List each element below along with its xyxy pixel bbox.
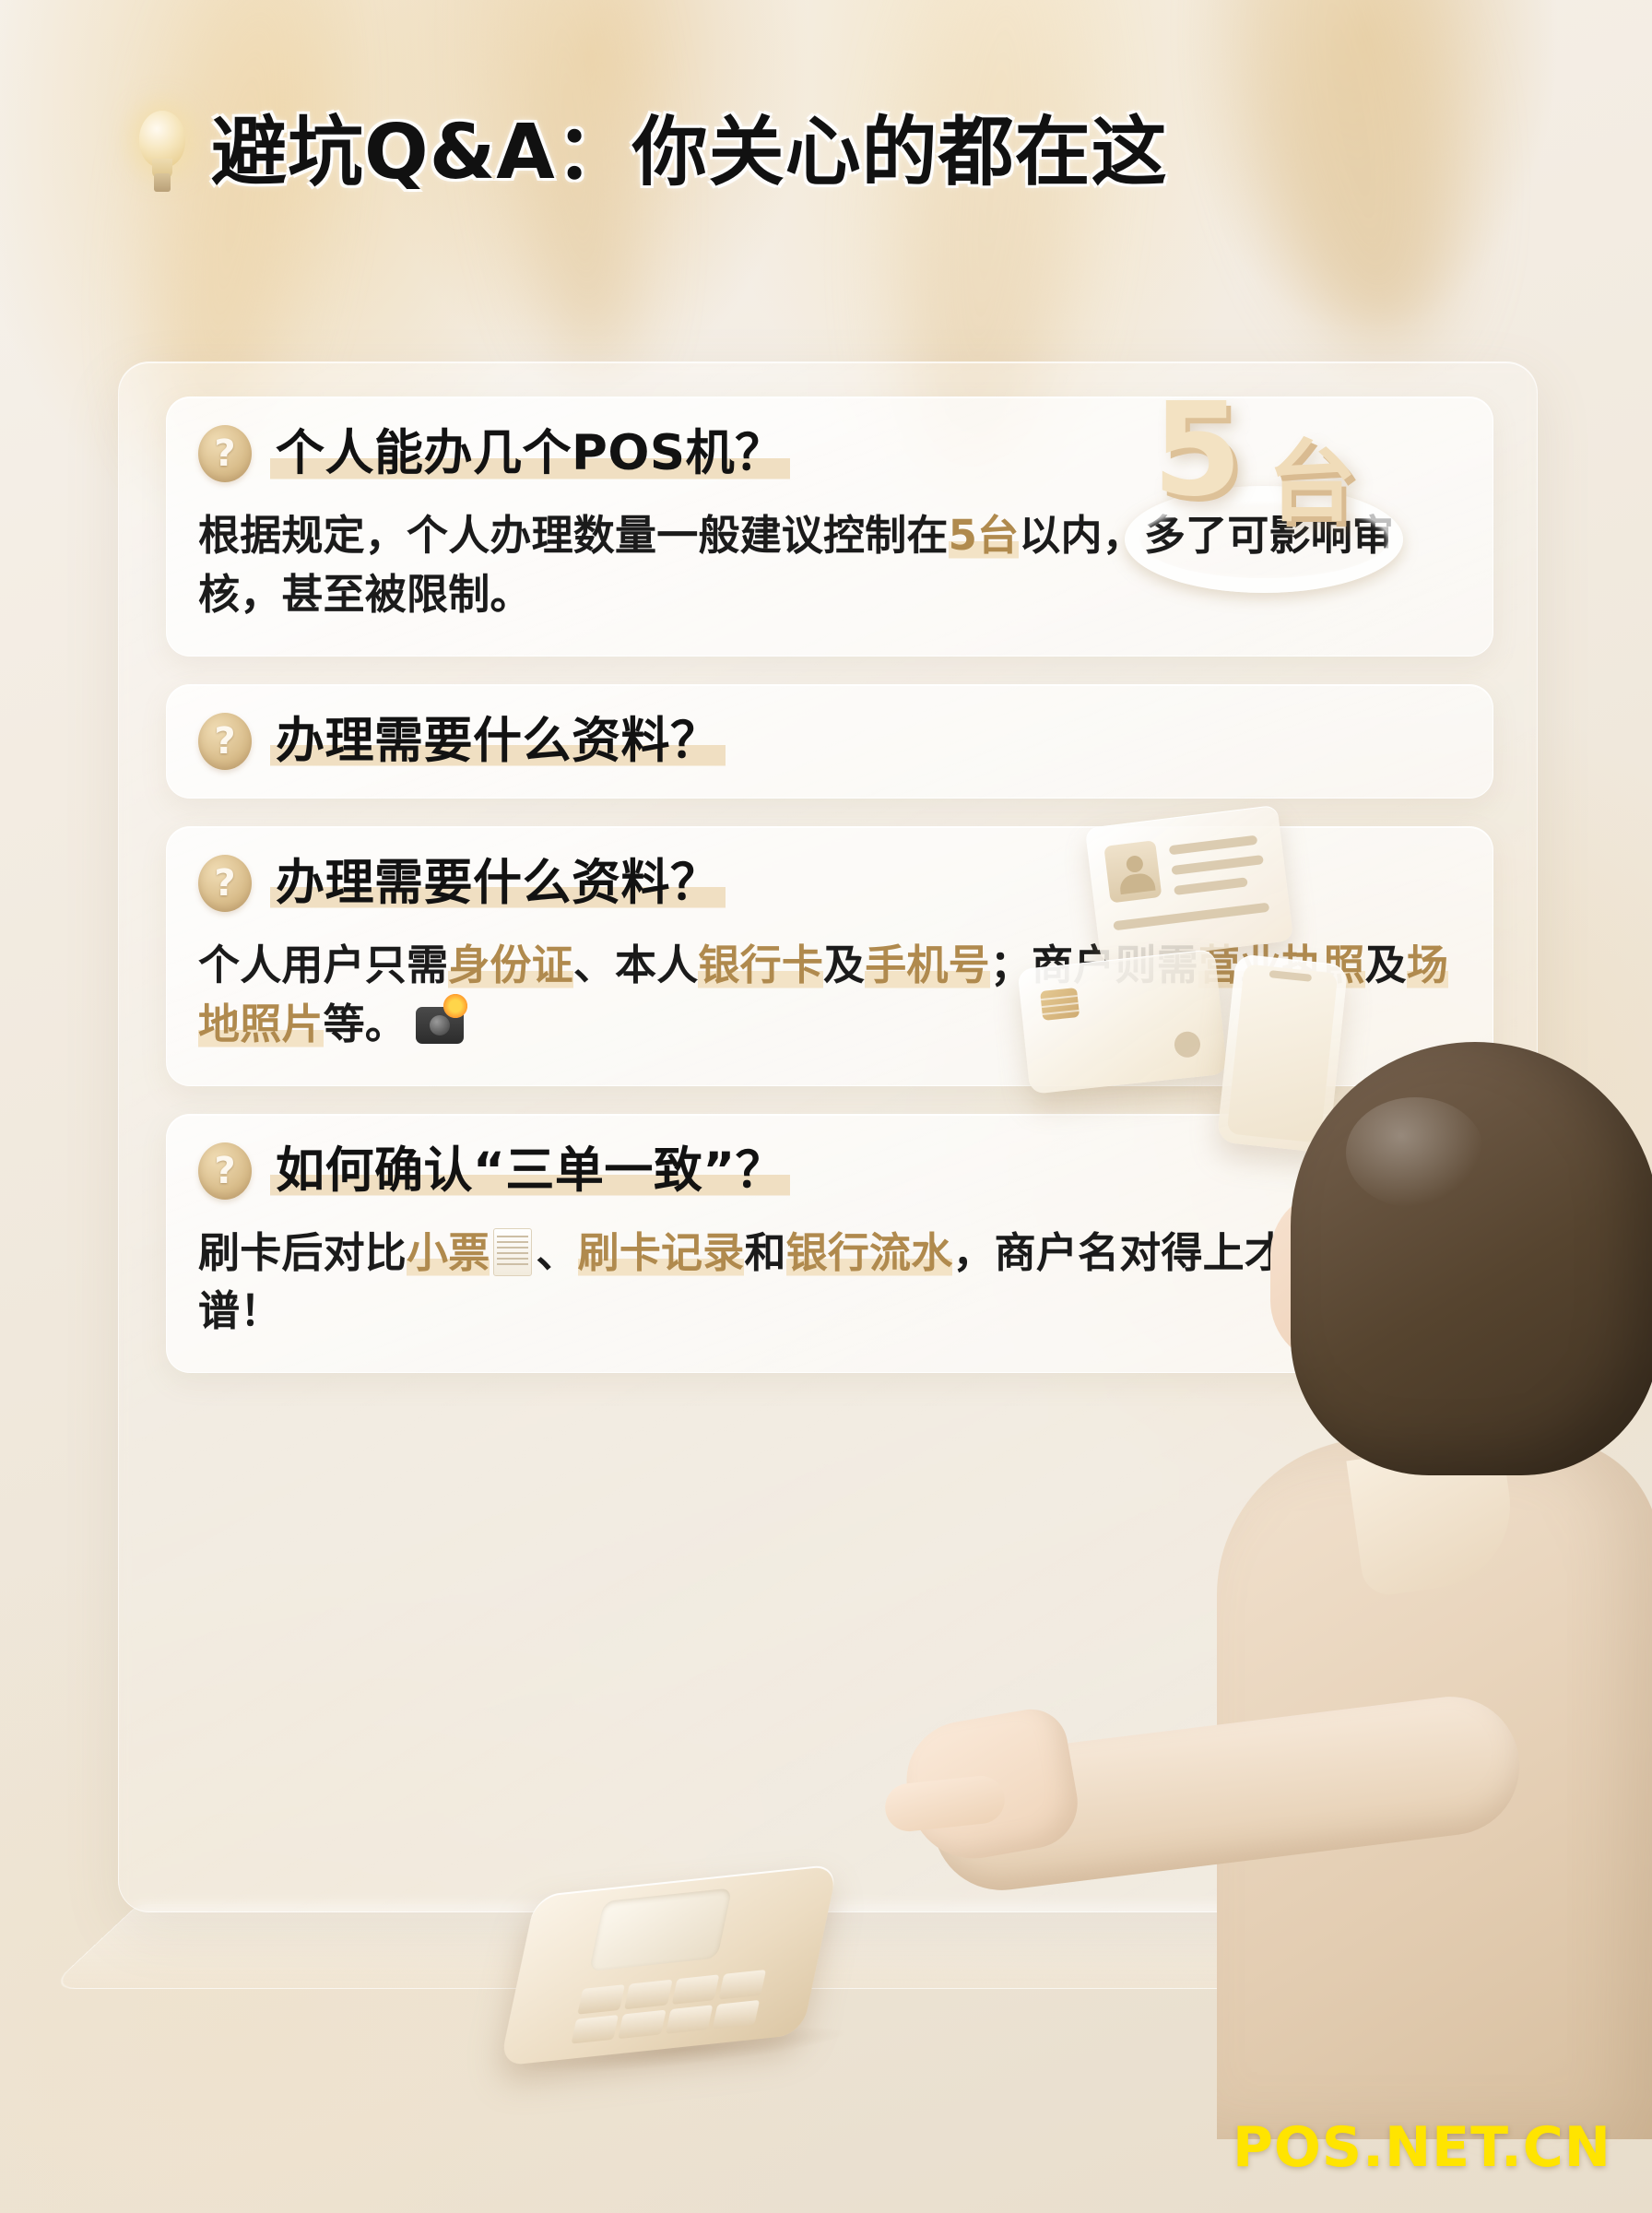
question-text: 个人能办几个POS机？ (270, 426, 790, 480)
question-text: 如何确认“三单一致”？ (270, 1143, 790, 1198)
answer-highlight: 银行卡 (698, 941, 823, 989)
question-row: ? 如何确认“三单一致”？ (198, 1142, 1461, 1200)
answer-highlight: 手机号 (865, 941, 990, 989)
answer-text: 个人用户只需身份证、本人银行卡及手机号；商户则需营业执照及场地照片等。 (198, 936, 1461, 1054)
background-light-streak (1213, 0, 1487, 363)
question-row: ? 办理需要什么资料？ (198, 855, 1461, 912)
answer-segment: 、 (536, 1228, 577, 1277)
answer-segment: 等。 (324, 1000, 407, 1048)
question-row: ? 个人能办几个POS机？ (198, 425, 1461, 482)
glass-board-base (48, 1904, 1613, 1989)
qa-card[interactable]: ? 办理需要什么资料？ (166, 684, 1493, 799)
question-text: 办理需要什么资料？ (270, 714, 726, 768)
qa-card[interactable]: ? 个人能办几个POS机？ 根据规定，个人办理数量一般建议控制在5台以内，多了可… (166, 396, 1493, 657)
qa-card[interactable]: ? 如何确认“三单一致”？ 刷卡后对比小票、刷卡记录和银行流水，商户名对得上才是… (166, 1114, 1493, 1374)
question-text: 办理需要什么资料？ (270, 856, 726, 910)
question-mark-icon: ? (198, 425, 252, 482)
qa-card[interactable]: ? 办理需要什么资料？ 个人用户只需身份证、本人银行卡及手机号；商户则需营业执照… (166, 826, 1493, 1086)
lightbulb-icon (134, 111, 191, 195)
answer-segment: 刷卡后对比 (198, 1228, 407, 1277)
qa-card-list: ? 个人能办几个POS机？ 根据规定，个人办理数量一般建议控制在5台以内，多了可… (166, 396, 1493, 1401)
answer-segment: 根据规定，个人办理数量一般建议控制在 (198, 511, 949, 560)
camera-icon (416, 1007, 464, 1044)
receipt-icon (493, 1228, 532, 1276)
answer-segment: 、本人 (573, 941, 699, 989)
watermark: POS.NET.CN (1233, 2115, 1611, 2180)
answer-segment: 及 (1365, 941, 1407, 989)
answer-segment: ；商户则需 (990, 941, 1198, 989)
answer-segment: 个人用户只需 (198, 941, 448, 989)
answer-text: 根据规定，个人办理数量一般建议控制在5台以内，多了可影响审核，甚至被限制。 (198, 506, 1461, 624)
answer-highlight: 小票 (407, 1228, 490, 1277)
answer-highlight: 5台 (949, 511, 1020, 560)
answer-highlight: 银行流水 (786, 1228, 953, 1277)
question-mark-icon: ? (198, 1142, 252, 1200)
answer-highlight: 营业执照 (1198, 941, 1365, 989)
answer-highlight: 刷卡记录 (578, 1228, 745, 1277)
page-title: 避坑Q&A：你关心的都在这 (211, 115, 1168, 191)
page-header: 避坑Q&A：你关心的都在这 (134, 111, 1168, 195)
question-mark-icon: ? (198, 855, 252, 912)
answer-segment: 及 (823, 941, 865, 989)
answer-segment: 和 (744, 1228, 785, 1277)
question-row: ? 办理需要什么资料？ (198, 713, 1461, 770)
answer-text: 刷卡后对比小票、刷卡记录和银行流水，商户名对得上才是真靠谱！ (198, 1224, 1461, 1342)
question-mark-icon: ? (198, 713, 252, 770)
answer-highlight: 身份证 (448, 941, 573, 989)
